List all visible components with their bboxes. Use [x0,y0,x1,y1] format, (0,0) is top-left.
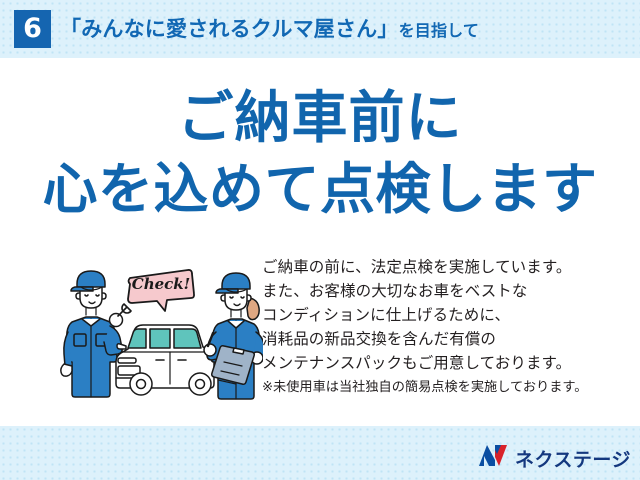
content-panel: ご納車前に 心を込めて点検します ご納車の前に、法定点検を実施しています。 また… [0,58,640,426]
body-note: ※未使用車は当社独自の簡易点検を実施しております。 [262,376,622,398]
headline-line-2: 心を込めて点検します [0,154,640,224]
section-number-badge: 6 [14,10,51,48]
nexstage-n-mark-icon [478,444,508,473]
van-illustration [116,325,214,395]
body-line-3: コンディションに仕上げるために、 [262,304,622,328]
body-line-4: 消耗品の新品交換を含んだ有償の [262,328,622,352]
brand-logo-text: ネクステージ [515,445,631,472]
promo-slide: 6 「みんなに愛されるクルマ屋さん」 を目指して ご納車前に 心を込めて点検しま… [0,0,640,480]
brand-logo: ネクステージ [478,444,631,472]
page-title: ご納車前に 心を込めて点検します [0,84,640,224]
body-line-5: メンテナンスパックもご用意しております。 [262,352,622,376]
header-title: 「みんなに愛されるクルマ屋さん」 を目指して [60,13,479,45]
body-line-2: また、お客様の大切なお車をベストな [262,280,622,304]
body-line-1: ご納車の前に、法定点検を実施しています。 [262,256,622,280]
header-title-quoted: 「みんなに愛されるクルマ屋さん」 [60,13,399,43]
body-copy: ご納車の前に、法定点検を実施しています。 また、お客様の大切なお車をベストな コ… [262,256,622,398]
headline-line-1: ご納車前に [0,84,640,154]
check-bubble-label: Check! [132,275,191,293]
header-title-suffix: を目指して [399,17,480,41]
mechanics-illustration: Check! [58,262,263,402]
